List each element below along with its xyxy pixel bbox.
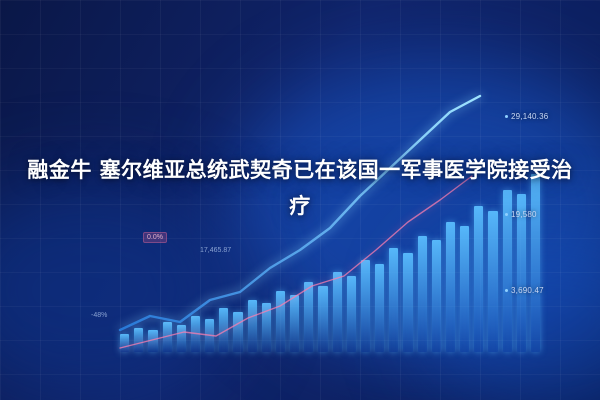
chart-tag-percent-negative: -48%: [88, 311, 110, 320]
chart-bar: [403, 253, 412, 352]
price-marker-dot: [505, 289, 508, 292]
chart-bar: [474, 206, 483, 352]
chart-bar: [134, 328, 143, 352]
chart-bar: [304, 282, 313, 352]
chart-bar: [446, 222, 455, 352]
chart-bar: [347, 276, 356, 352]
chart-bar: [233, 312, 242, 352]
chart-bar: [148, 330, 157, 352]
chart-bar: [219, 308, 228, 352]
price-marker-dot: [505, 115, 508, 118]
chart-bar: [488, 211, 497, 352]
chart-bar: [460, 226, 469, 352]
chart-bar: [205, 319, 214, 352]
price-label-low: 3,690.47: [505, 286, 544, 295]
chart-bar: [389, 248, 398, 352]
chart-bar: [318, 286, 327, 352]
chart-bar: [418, 236, 427, 352]
chart-bar: [361, 260, 370, 352]
chart-bar: [191, 316, 200, 352]
chart-bar: [177, 325, 186, 352]
headline-text: 融金牛 塞尔维亚总统武契奇已在该国一军事医学院接受治疗: [0, 152, 600, 224]
chart-bar: [375, 264, 384, 352]
chart-bar: [276, 291, 285, 352]
price-label-high: 29,140.36: [505, 112, 548, 121]
chart-tag-percent-zero: 0.0%: [143, 232, 167, 243]
chart-bar: [248, 300, 257, 352]
chart-bar: [120, 334, 129, 352]
chart-tag-value: 17,465.87: [197, 246, 234, 255]
chart-bar: [432, 240, 441, 352]
thumbnail-canvas: 29,140.36 19,580 3,690.47 0.0% 17,465.87…: [0, 0, 600, 400]
chart-bar: [262, 303, 271, 352]
chart-bar: [333, 272, 342, 352]
chart-bar: [163, 322, 172, 352]
chart-bar: [290, 295, 299, 352]
background-glow-right: [420, 230, 600, 400]
